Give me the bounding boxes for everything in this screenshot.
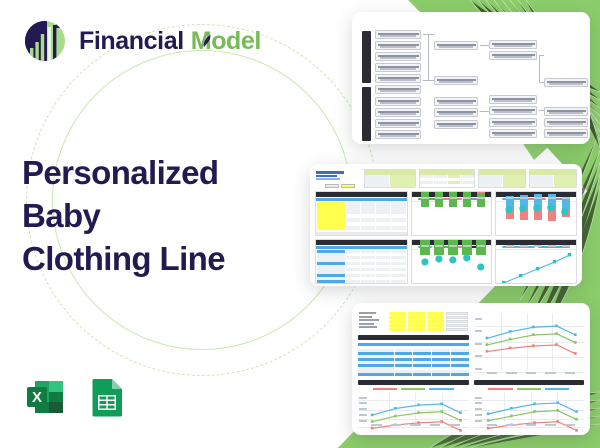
tree-node xyxy=(375,30,421,39)
tree-node xyxy=(375,74,421,83)
headline-line-1: Personalized xyxy=(22,154,218,191)
marker-bubbles xyxy=(496,201,576,236)
panel-summary-analysis xyxy=(358,310,469,376)
tree-node xyxy=(489,118,537,127)
tree-node xyxy=(544,118,588,127)
tree-connector xyxy=(428,34,429,80)
marker-bubbles xyxy=(412,249,492,284)
panel-revenue-streams-chart xyxy=(411,191,493,236)
tree-node xyxy=(434,76,478,85)
panel-profitability-chart xyxy=(495,191,577,236)
projections-preview xyxy=(358,310,584,428)
line-chart xyxy=(474,314,585,376)
tree-node xyxy=(375,41,421,50)
dashboard-middle-row xyxy=(315,191,577,236)
chart-legend xyxy=(474,387,585,391)
projection-lines xyxy=(474,393,584,436)
tree-band-income-statement xyxy=(362,31,371,83)
tree-connector xyxy=(423,34,434,35)
page-title: Personalized Baby Clothing Line xyxy=(22,152,287,281)
dashboard-bottom-row xyxy=(315,239,577,284)
dashboard-header-row xyxy=(315,169,577,188)
panel-core-inputs xyxy=(315,191,408,236)
panel-cashflow-chart xyxy=(411,239,493,284)
tree-node xyxy=(434,41,478,50)
brand-name-part1: Financial xyxy=(79,29,184,54)
brand-name-part2-wrap: Model xyxy=(191,29,261,54)
tree-node xyxy=(375,63,421,72)
tree-node xyxy=(375,52,421,61)
tree-connector xyxy=(539,110,544,111)
tree-node xyxy=(434,108,478,117)
tree-node xyxy=(544,78,588,87)
panel-investment-payback-chart xyxy=(495,239,577,284)
projection-lines xyxy=(474,314,584,365)
tree-node xyxy=(434,120,478,129)
projections-top-row xyxy=(358,310,584,376)
panel-core-financials xyxy=(315,239,408,284)
tree-node xyxy=(544,129,588,138)
headline-line-2: Baby xyxy=(22,197,100,234)
tree-node xyxy=(375,97,421,106)
dashboard-summary-panel-1 xyxy=(364,169,416,188)
tree-node xyxy=(489,40,537,49)
file-format-icons: X xyxy=(22,374,130,420)
tree-connector xyxy=(539,55,540,82)
projections-bottom-row xyxy=(358,380,584,429)
panel-projection-chart-3 xyxy=(474,380,585,429)
tree-node xyxy=(375,85,421,94)
tree-node xyxy=(375,119,421,128)
google-sheets-icon[interactable] xyxy=(84,374,130,420)
tree-connector xyxy=(423,80,434,81)
tree-connector xyxy=(480,45,489,46)
leaf-accent-icon xyxy=(202,35,212,48)
tree-node xyxy=(544,107,588,116)
tree-connector xyxy=(480,111,489,112)
dashboard-summary-panel-2 xyxy=(419,169,475,188)
dashboard-summary-panel-4 xyxy=(529,169,577,188)
brand-logo: Financial Model xyxy=(22,18,261,64)
tree-node xyxy=(375,130,421,139)
projection-lines xyxy=(358,393,468,436)
svg-text:X: X xyxy=(32,389,42,406)
panel-projection-chart-1 xyxy=(474,310,585,376)
line-chart xyxy=(474,393,585,429)
tree-connector xyxy=(539,82,544,83)
line-chart xyxy=(358,393,469,429)
brand-wordmark: Financial Model xyxy=(79,29,261,54)
tree-node xyxy=(489,106,537,115)
preview-card-dashboard[interactable] xyxy=(310,164,582,286)
tree-node xyxy=(375,108,421,117)
poster-canvas: Financial Model Personalized Baby Clothi… xyxy=(0,0,600,448)
payback-line xyxy=(496,249,576,284)
financial-dashboard-preview xyxy=(315,169,577,281)
tree-node xyxy=(489,95,537,104)
dupont-analysis-diagram xyxy=(358,19,584,137)
tree-node xyxy=(489,129,537,138)
microsoft-excel-icon[interactable]: X xyxy=(22,374,68,420)
dashboard-summary-panel-3 xyxy=(478,169,526,188)
preview-card-projections[interactable] xyxy=(352,303,590,435)
circular-chart-logo-icon xyxy=(22,18,68,64)
summary-yellow-block xyxy=(358,310,469,331)
tree-node xyxy=(489,51,537,60)
tree-connector xyxy=(539,55,544,56)
chart-legend xyxy=(358,387,469,391)
dashboard-title-block xyxy=(315,169,361,188)
tree-node xyxy=(434,97,478,106)
headline-line-3: Clothing Line xyxy=(22,240,225,277)
preview-card-dupont-tree[interactable] xyxy=(352,12,590,144)
panel-projection-chart-2 xyxy=(358,380,469,429)
tree-band-balance-sheet xyxy=(362,87,371,141)
